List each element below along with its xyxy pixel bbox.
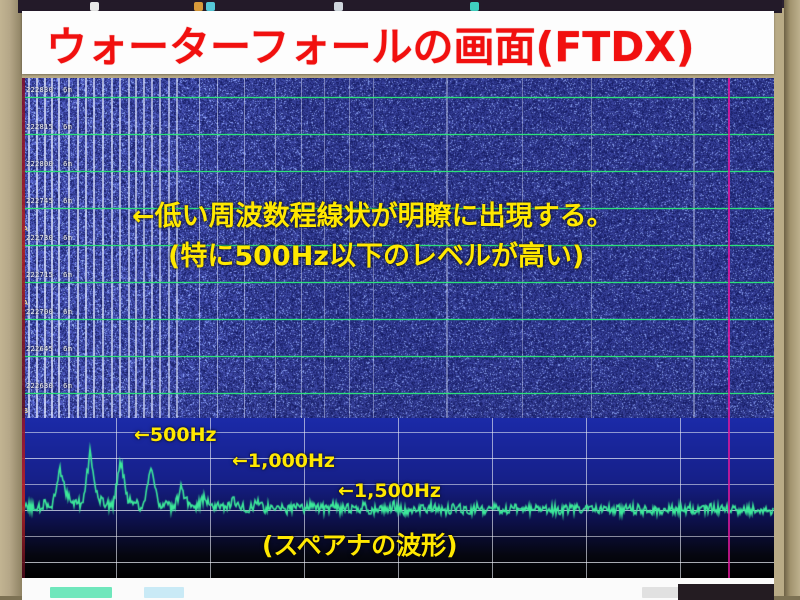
monitor-bezel-left xyxy=(0,0,22,600)
page-title: ウォーターフォールの画面(FTDX) xyxy=(46,13,695,73)
waterfall-time-label: 2228156m xyxy=(26,123,72,131)
band-value: 6m xyxy=(63,123,72,131)
top-icon-2 xyxy=(194,2,203,11)
annotation-500hz-level-note: (特に500Hz以下のレベルが高い) xyxy=(168,234,584,273)
marker-500hz: ←500Hz xyxy=(134,424,217,446)
top-icon-3 xyxy=(206,2,215,11)
waterfall-time-gridline xyxy=(22,356,774,357)
waterfall-left-edge-line xyxy=(22,78,25,418)
waterfall-time-label: 2227306m xyxy=(26,234,72,242)
waterfall-time-label: 2228306m xyxy=(26,86,72,94)
spectrum-left-edge-line xyxy=(22,418,25,578)
spectrum-analyzer-display[interactable]: ←500Hz ←1,000Hz ←1,500Hz (スペアナの波形) xyxy=(22,418,774,578)
waterfall-signal-stripe xyxy=(119,78,121,418)
top-icon-4 xyxy=(334,2,343,11)
waterfall-signal-stripe xyxy=(591,78,592,418)
waterfall-signal-stripe xyxy=(143,78,145,418)
waterfall-time-label: 2226456m xyxy=(26,345,72,353)
time-value: 222800 xyxy=(26,160,53,168)
band-value: 6m xyxy=(63,308,72,316)
waterfall-time-gridline xyxy=(22,393,774,394)
waterfall-time-gridline xyxy=(22,97,774,98)
bottom-chip-2 xyxy=(144,587,184,598)
waterfall-time-gridline xyxy=(22,171,774,172)
bottom-chip-1 xyxy=(50,587,112,598)
waterfall-time-label: 2227456m xyxy=(26,197,72,205)
time-value: 222815 xyxy=(26,123,53,131)
waterfall-signal-stripe xyxy=(85,78,87,418)
waterfall-signal-stripe xyxy=(151,78,153,418)
waterfall-time-gridline xyxy=(22,134,774,135)
time-value: 222645 xyxy=(26,345,53,353)
waterfall-signal-stripe xyxy=(77,78,79,418)
waterfall-signal-stripe xyxy=(102,78,104,418)
waterfall-signal-stripe xyxy=(111,78,113,418)
waterfall-signal-stripe xyxy=(128,78,130,418)
waterfall-time-label: 2227156m xyxy=(26,271,72,279)
waterfall-time-label: 2228006m xyxy=(26,160,72,168)
waterfall-tuning-marker xyxy=(728,78,730,418)
band-value: 6m xyxy=(63,345,72,353)
waterfall-signal-stripe xyxy=(93,78,95,418)
waterfall-time-gridline xyxy=(22,282,774,283)
screen-bottom-bar xyxy=(22,578,774,600)
band-value: 6m xyxy=(63,86,72,94)
time-value: 222715 xyxy=(26,271,53,279)
marker-1500hz: ←1,500Hz xyxy=(338,480,441,502)
waterfall-signal-stripe xyxy=(693,78,694,418)
spectrum-tuning-marker xyxy=(728,418,730,578)
spectrum-caption: (スペアナの波形) xyxy=(262,526,458,562)
bottom-dark-block xyxy=(678,584,774,600)
annotation-low-frequency-note: ←低い周波数程線状が明瞭に出現する。 xyxy=(132,194,614,233)
band-value: 6m xyxy=(63,234,72,242)
band-value: 6m xyxy=(63,382,72,390)
top-icon-1 xyxy=(90,2,99,11)
band-value: 6m xyxy=(63,160,72,168)
marker-1000hz: ←1,000Hz xyxy=(232,450,335,472)
waterfall-display[interactable]: 2228306m2228156m2228006m2227456m2227306m… xyxy=(22,78,774,418)
time-value: 222700 xyxy=(26,308,53,316)
time-value: 222745 xyxy=(26,197,53,205)
waterfall-time-label: 2227006m xyxy=(26,308,72,316)
waterfall-signal-stripe xyxy=(135,78,137,418)
time-value: 222730 xyxy=(26,234,53,242)
title-banner: ウォーターフォールの画面(FTDX) xyxy=(22,11,774,74)
monitor-bezel-right xyxy=(784,0,800,600)
waterfall-signal-stripe xyxy=(159,78,161,418)
time-value: 222830 xyxy=(26,86,53,94)
band-value: 6m xyxy=(63,197,72,205)
monitor-photo: ウォーターフォールの画面(FTDX) 2228306m2228156m22280… xyxy=(0,0,800,600)
time-value: 222630 xyxy=(26,382,53,390)
waterfall-time-label: 2226306m xyxy=(26,382,72,390)
band-value: 6m xyxy=(63,271,72,279)
top-icon-5 xyxy=(470,2,479,11)
waterfall-time-gridline xyxy=(22,319,774,320)
